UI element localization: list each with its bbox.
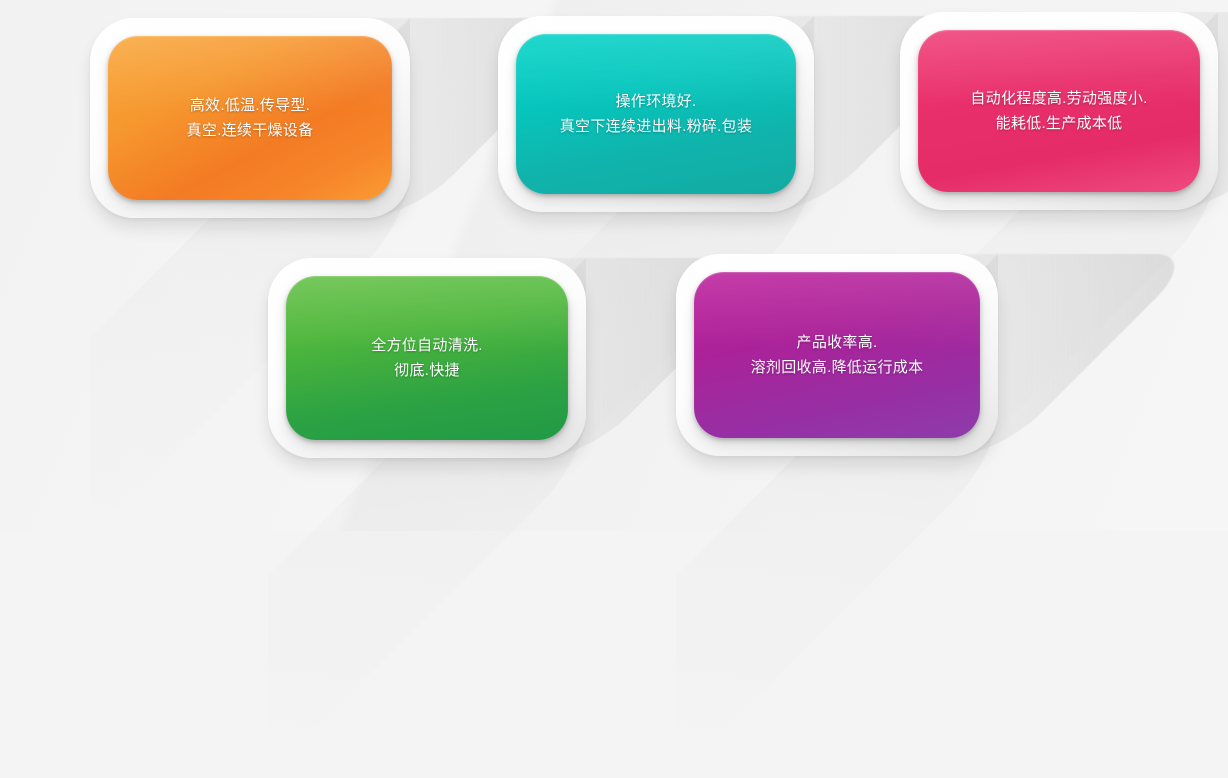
feature-card-cleaning[interactable]: 全方位自动清洗. 彻底.快捷 [268, 258, 586, 458]
card-label: 自动化程度高.劳动强度小. 能耗低.生产成本低 [956, 86, 1161, 136]
card-label: 操作环境好. 真空下连续进出料.粉碎.包装 [546, 89, 767, 139]
feature-card-efficiency[interactable]: 高效.低温.传导型. 真空.连续干燥设备 [90, 18, 410, 218]
feature-card-yield[interactable]: 产品收率高. 溶剂回收高.降低运行成本 [676, 254, 998, 456]
card-color-panel[interactable]: 全方位自动清洗. 彻底.快捷 [286, 276, 568, 440]
card-color-panel[interactable]: 产品收率高. 溶剂回收高.降低运行成本 [694, 272, 980, 438]
feature-card-automation[interactable]: 自动化程度高.劳动强度小. 能耗低.生产成本低 [900, 12, 1218, 210]
card-label: 高效.低温.传导型. 真空.连续干燥设备 [173, 93, 328, 143]
card-label: 全方位自动清洗. 彻底.快捷 [357, 333, 497, 383]
card-color-panel[interactable]: 操作环境好. 真空下连续进出料.粉碎.包装 [516, 34, 796, 194]
feature-cards-container: 高效.低温.传导型. 真空.连续干燥设备 操作环境好. 真空下连续进出料.粉碎.… [0, 0, 1228, 531]
card-label: 产品收率高. 溶剂回收高.降低运行成本 [737, 330, 938, 380]
card-color-panel[interactable]: 自动化程度高.劳动强度小. 能耗低.生产成本低 [918, 30, 1200, 192]
card-color-panel[interactable]: 高效.低温.传导型. 真空.连续干燥设备 [108, 36, 392, 200]
feature-card-operating-environment[interactable]: 操作环境好. 真空下连续进出料.粉碎.包装 [498, 16, 814, 212]
